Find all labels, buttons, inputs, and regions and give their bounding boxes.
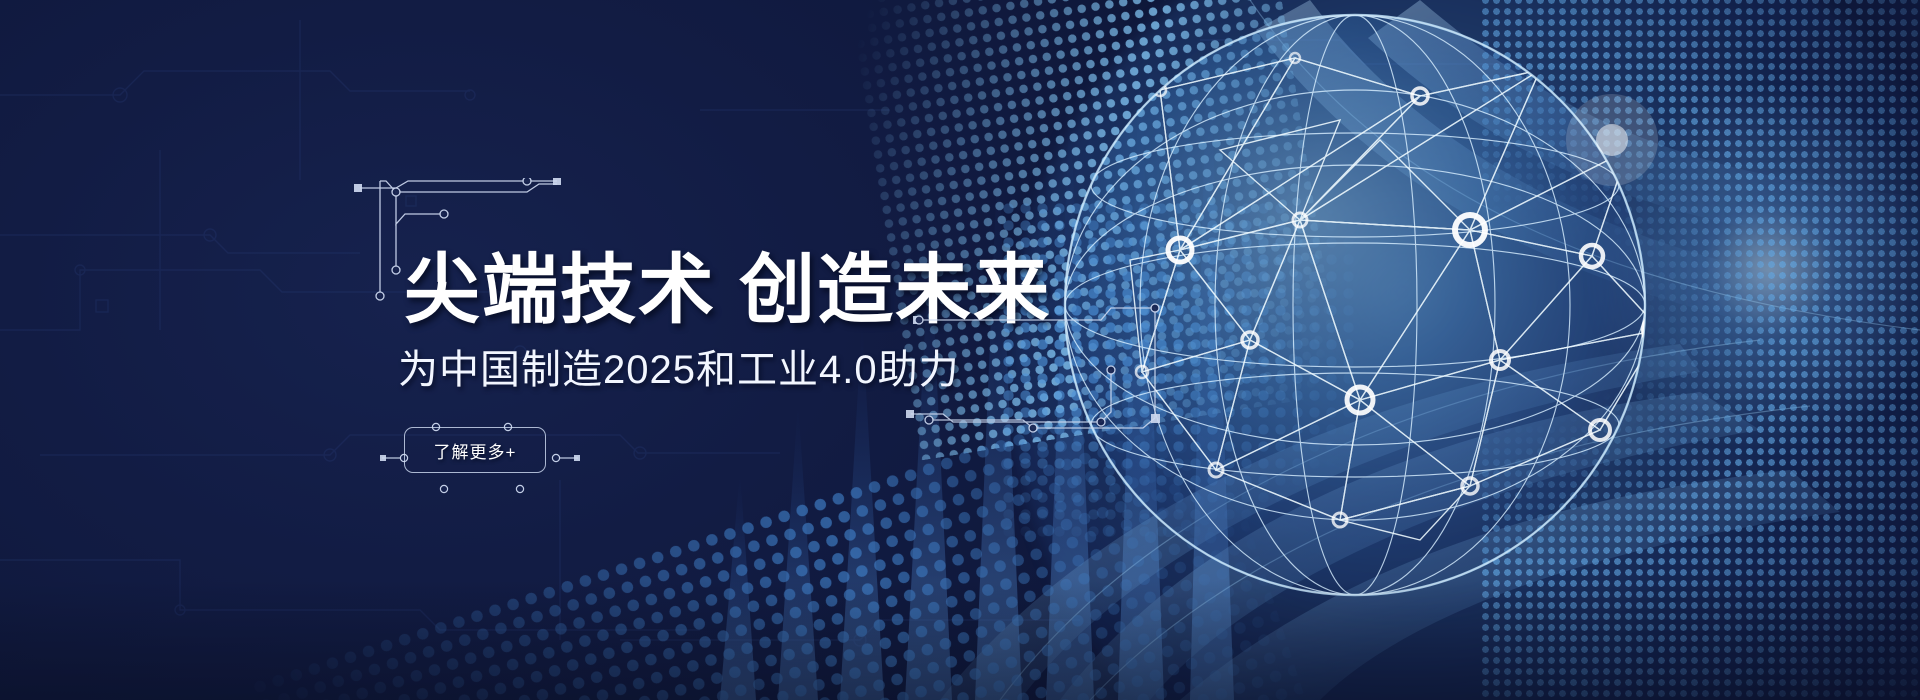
hero-banner: 尖端技术 创造未来 为中国制造2025和工业4.0助力 bbox=[0, 0, 1920, 700]
banner-content: 尖端技术 创造未来 为中国制造2025和工业4.0助力 bbox=[0, 0, 1920, 700]
page-subtitle: 为中国制造2025和工业4.0助力 bbox=[398, 337, 960, 395]
learn-more-button[interactable]: 了解更多+ bbox=[404, 427, 546, 473]
circuit-bracket-bottom-right-icon bbox=[905, 300, 1215, 450]
